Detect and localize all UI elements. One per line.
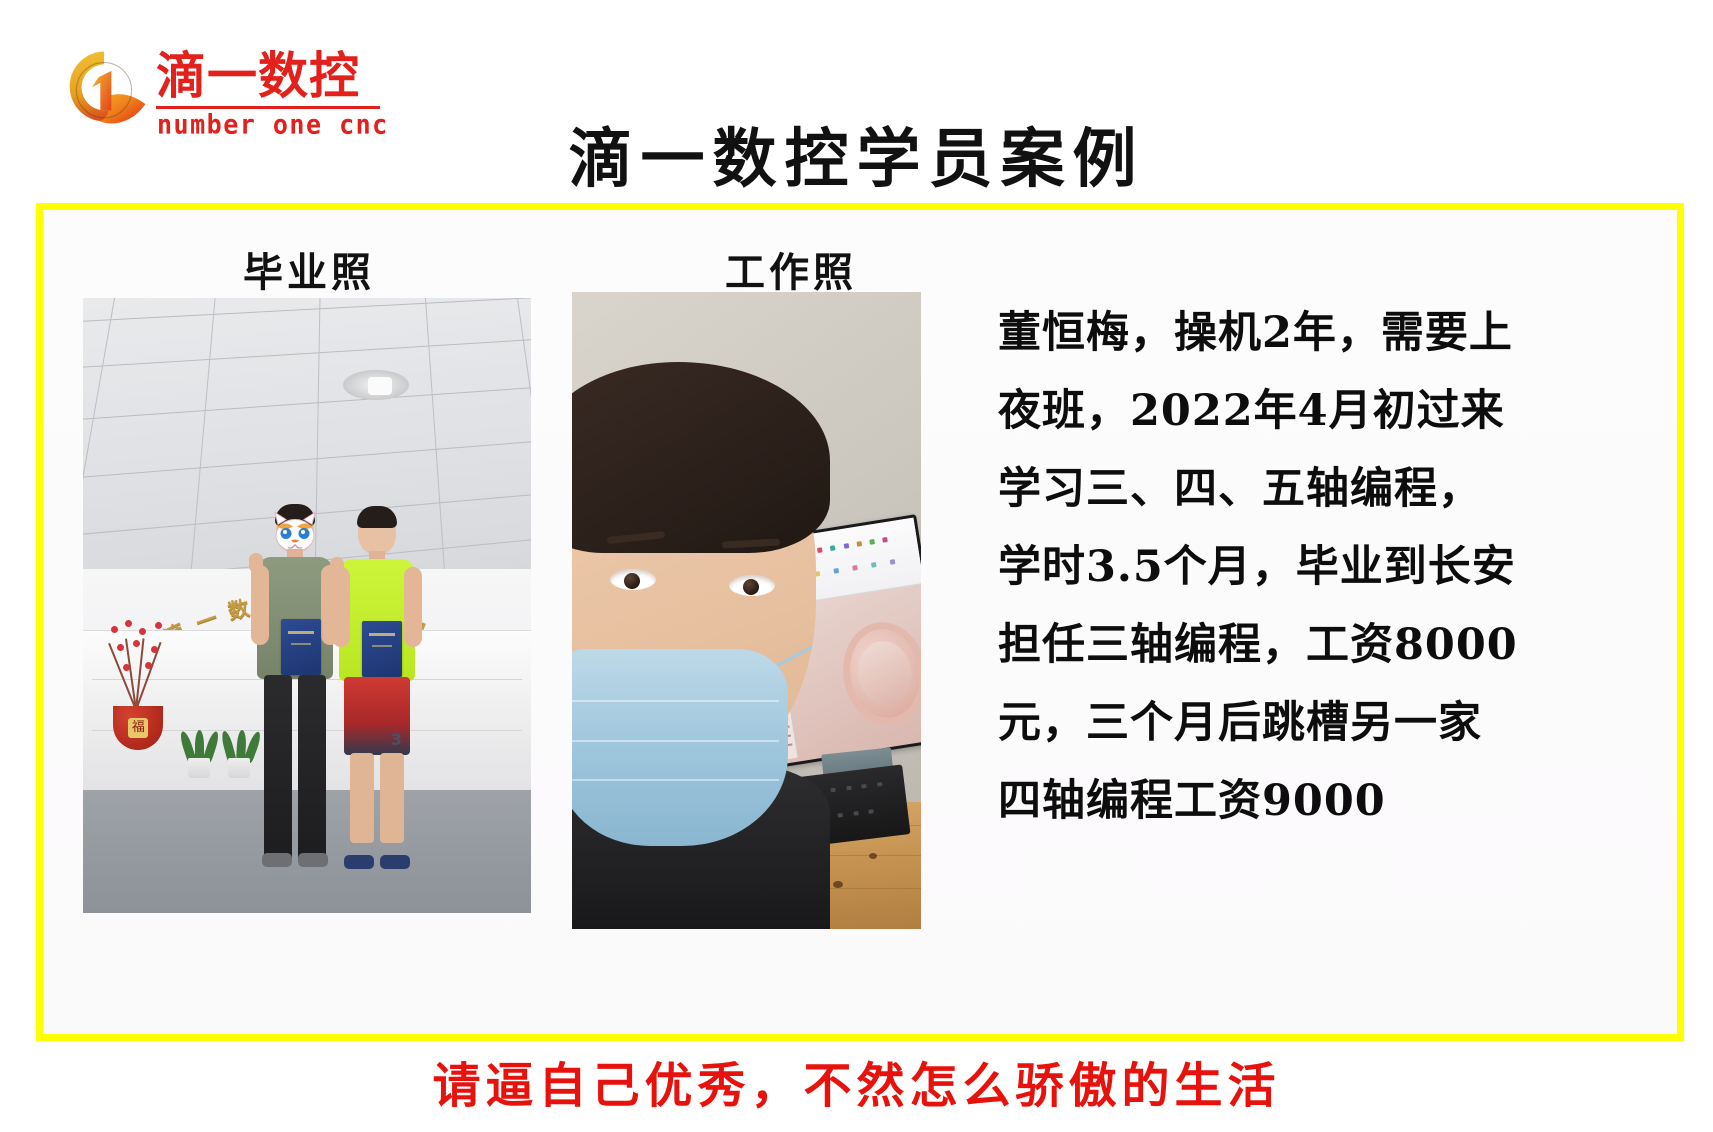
description-line: 董恒梅，操机2年，需要上: [998, 294, 1618, 372]
content-panel: 毕业照 工作照 市 滴 一: [36, 203, 1684, 1041]
description-line: 学习三、四、五轴编程，: [998, 450, 1618, 528]
logo-chinese-name: 滴一数控: [156, 50, 360, 102]
caption-graduation-photo: 毕业照: [243, 240, 375, 298]
description-line: 学时3.5个月，毕业到长安: [998, 528, 1618, 606]
shorts-number: 3: [391, 730, 402, 749]
description-line: 四轴编程工资9000: [998, 762, 1618, 840]
decorative-vase: 福: [105, 618, 171, 750]
graduation-certificate: [362, 621, 402, 677]
description-line: 夜班，2022年4月初过来: [998, 372, 1618, 450]
ceiling-downlight-icon: [343, 370, 409, 400]
thumbs-up-gesture: [249, 553, 263, 573]
potted-plant: [182, 724, 216, 778]
graduate-person-left: [253, 507, 337, 907]
surgical-face-mask: [572, 649, 788, 846]
cad-part-model: [835, 616, 921, 730]
graduate-person-right: 3: [334, 509, 420, 907]
work-photo: [572, 292, 921, 929]
potted-plant: [222, 724, 256, 778]
page-title: 滴一数控学员案例: [0, 108, 1713, 200]
thumbs-up-gesture: [330, 557, 344, 577]
graduation-photo: 市 滴 一 数 控 技 术 有 限 公 司 滴一数控: [83, 298, 531, 913]
student-case-description: 董恒梅，操机2年，需要上 夜班，2022年4月初过来 学习三、四、五轴编程， 学…: [998, 294, 1618, 840]
description-line: 担任三轴编程，工资8000: [998, 606, 1618, 684]
slide-root: 滴一数控 number one cnc 滴一数控学员案例 毕业照 工作照: [0, 0, 1713, 1132]
description-line: 元，三个月后跳槽另一家: [998, 684, 1618, 762]
graduation-certificate: [281, 619, 321, 675]
caption-work-photo: 工作照: [725, 240, 857, 298]
vase-fu-character: 福: [128, 718, 148, 738]
footer-slogan: 请逼自己优秀，不然怎么骄傲的生活: [0, 1046, 1713, 1116]
